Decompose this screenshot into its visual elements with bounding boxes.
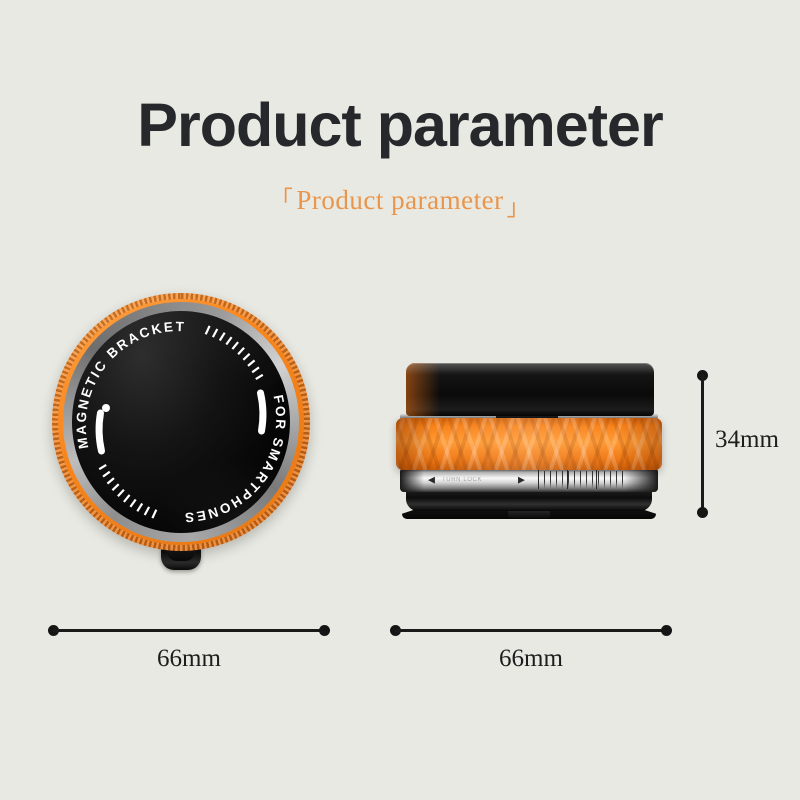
- dimension-endpoint-end-icon: [661, 625, 672, 636]
- face-markings: MAGNETIC BRACKET FOR SMARTPHONES: [72, 311, 290, 533]
- label-for-smartphones: FOR SMARTPHONES: [183, 394, 289, 525]
- dimension-label: 66mm: [48, 645, 330, 673]
- black-top-cap: [406, 363, 654, 416]
- dimension-endpoint-end-icon: [697, 507, 708, 518]
- silver-scale-band: ◀ TURN LOCK ▶: [400, 468, 658, 492]
- band-arrow-right-icon: ▶: [518, 476, 525, 485]
- dimension-endpoint-end-icon: [319, 625, 330, 636]
- product-illustration-stage: MAGNETIC BRACKET FOR SMARTPHONES: [0, 0, 800, 800]
- dimension-line: [53, 629, 325, 632]
- product-top-view: MAGNETIC BRACKET FOR SMARTPHONES: [52, 293, 310, 551]
- dimension-label: 34mm: [715, 426, 779, 454]
- dimension-height-side-view: 34mm: [697, 370, 787, 518]
- black-face-plate: MAGNETIC BRACKET FOR SMARTPHONES: [72, 311, 290, 533]
- cap-gloss-highlight: [406, 363, 654, 375]
- dimension-width-top-view: 66mm: [48, 625, 330, 685]
- band-arrow-left-icon: ◀: [428, 476, 435, 485]
- band-scale-major-ticks: [538, 469, 624, 489]
- dimension-label: 66mm: [390, 645, 672, 673]
- mid-ring-shading: [396, 418, 662, 470]
- band-shadow-right: [624, 468, 658, 492]
- indicator-dot-icon: [102, 404, 110, 412]
- dimension-width-side-view: 66mm: [390, 625, 672, 685]
- tick-marks-lower: [99, 465, 156, 518]
- band-shadow-left: [400, 468, 424, 492]
- arc-segment-right: [261, 393, 263, 431]
- band-lock-label: TURN LOCK: [442, 477, 482, 483]
- tick-marks-upper: [206, 326, 263, 379]
- product-parameter-page: Product parameter 「Product parameter」: [0, 0, 800, 800]
- product-side-view: ◀ TURN LOCK ▶: [396, 363, 662, 513]
- dimension-line: [701, 375, 704, 513]
- arc-segment-left: [99, 413, 101, 451]
- label-magnetic-bracket: MAGNETIC BRACKET: [74, 319, 187, 450]
- dimension-line: [395, 629, 667, 632]
- orange-knurled-mid-ring: [396, 418, 662, 470]
